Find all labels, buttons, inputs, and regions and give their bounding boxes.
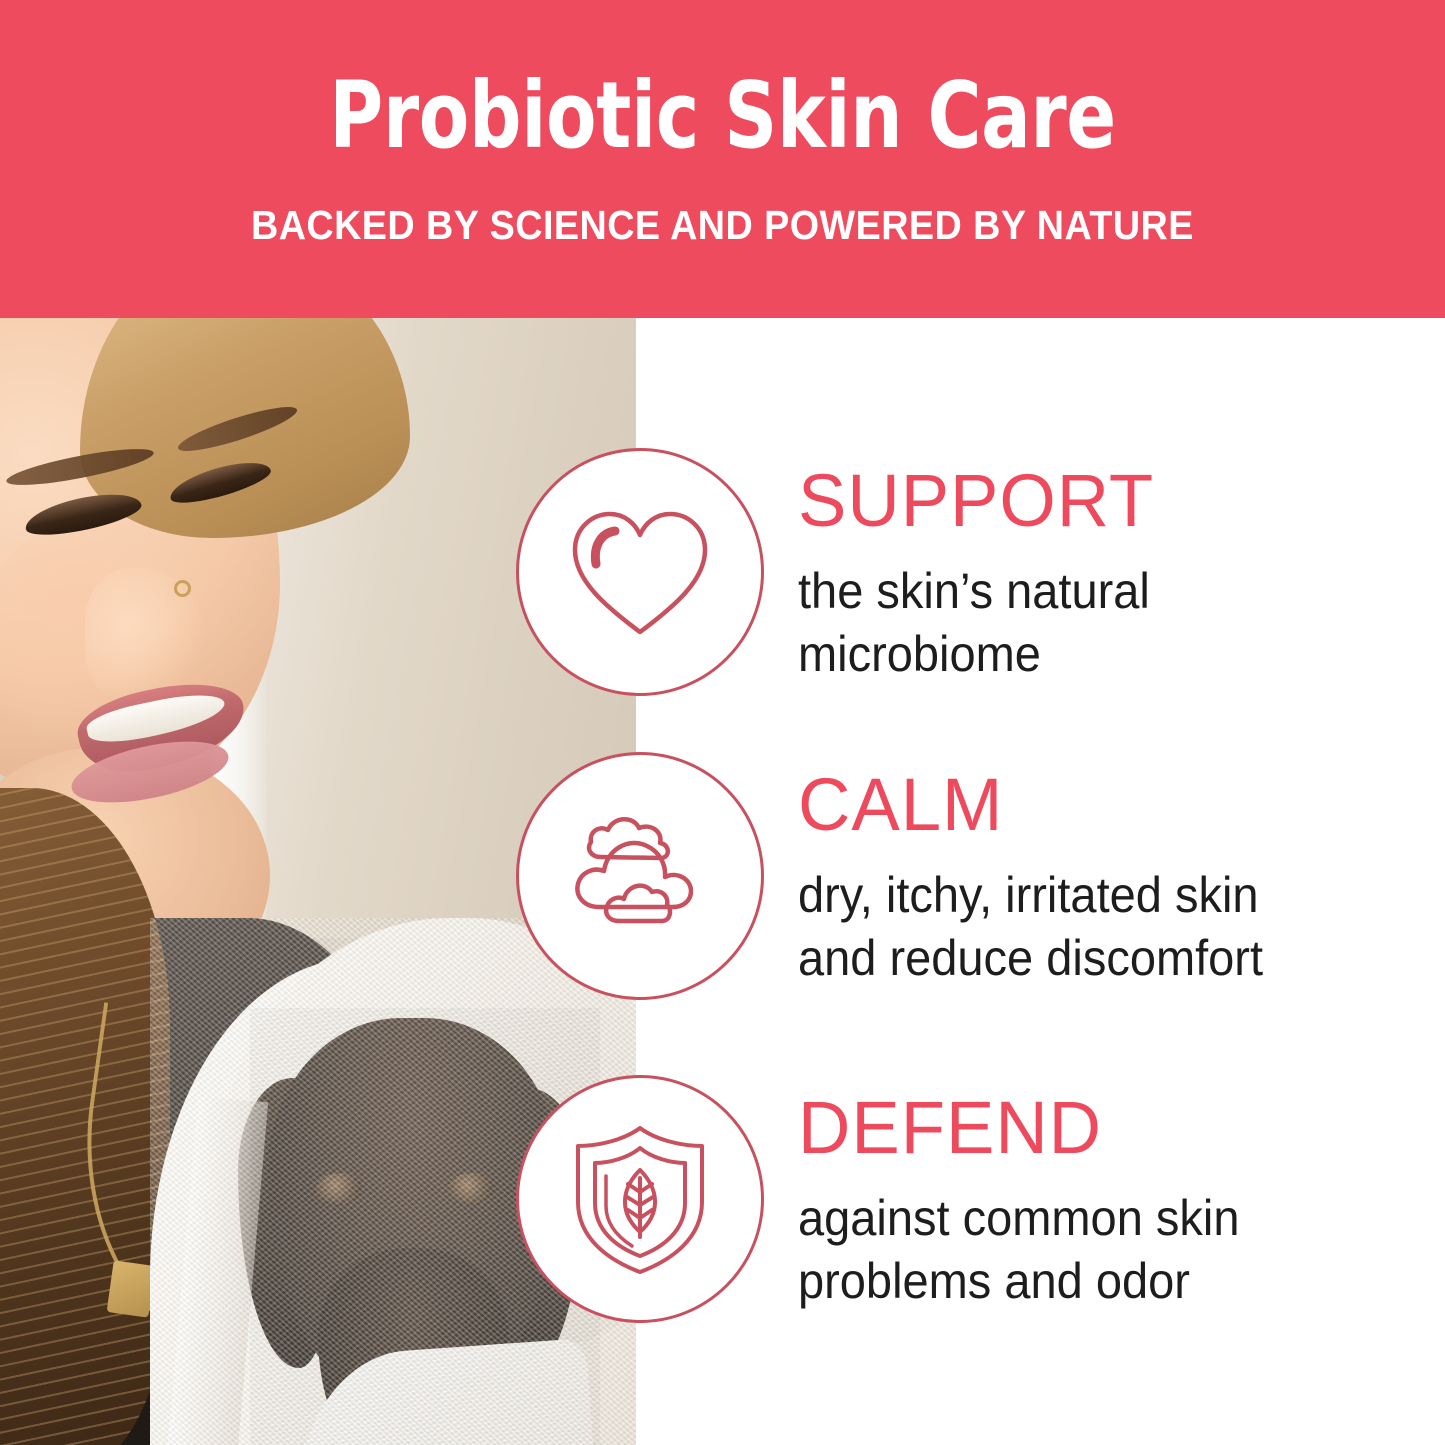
feature-item-support: SUPPORT the skin’s natural microbiome [516,448,1445,696]
feature-title: DEFEND [798,1091,1258,1165]
feature-description-line: microbiome [798,623,1150,686]
heart-icon [516,448,764,696]
feature-description: dry, itchy, irritated skin and reduce di… [798,864,1263,990]
feature-title: SUPPORT [798,464,1165,538]
feature-text-calm: CALM dry, itchy, irritated skin and redu… [798,752,1293,990]
banner-subtitle: BACKED BY SCIENCE AND POWERED BY NATURE [251,202,1194,249]
feature-item-defend: DEFEND against common skin problems and … [516,1075,1445,1323]
feature-description-line: the skin’s natural [798,560,1150,623]
feature-description-line: and reduce discomfort [798,927,1263,990]
clouds-icon [516,752,764,1000]
feature-description: against common skin problems and odor [798,1187,1239,1313]
feature-text-support: SUPPORT the skin’s natural microbiome [798,448,1172,686]
feature-description: the skin’s natural microbiome [798,560,1150,686]
page-title: Probiotic Skin Care [329,70,1115,162]
feature-title: CALM [798,768,1283,842]
feature-description-line: problems and odor [798,1250,1239,1313]
shield-leaf-icon [516,1075,764,1323]
feature-description-line: dry, itchy, irritated skin [798,864,1263,927]
feature-description-line: against common skin [798,1187,1239,1250]
feature-text-defend: DEFEND against common skin problems and … [798,1075,1268,1313]
feature-item-calm: CALM dry, itchy, irritated skin and redu… [516,752,1445,1000]
header-banner: Probiotic Skin Care BACKED BY SCIENCE AN… [0,0,1445,318]
feature-list: SUPPORT the skin’s natural microbiome CA… [0,318,1445,1445]
